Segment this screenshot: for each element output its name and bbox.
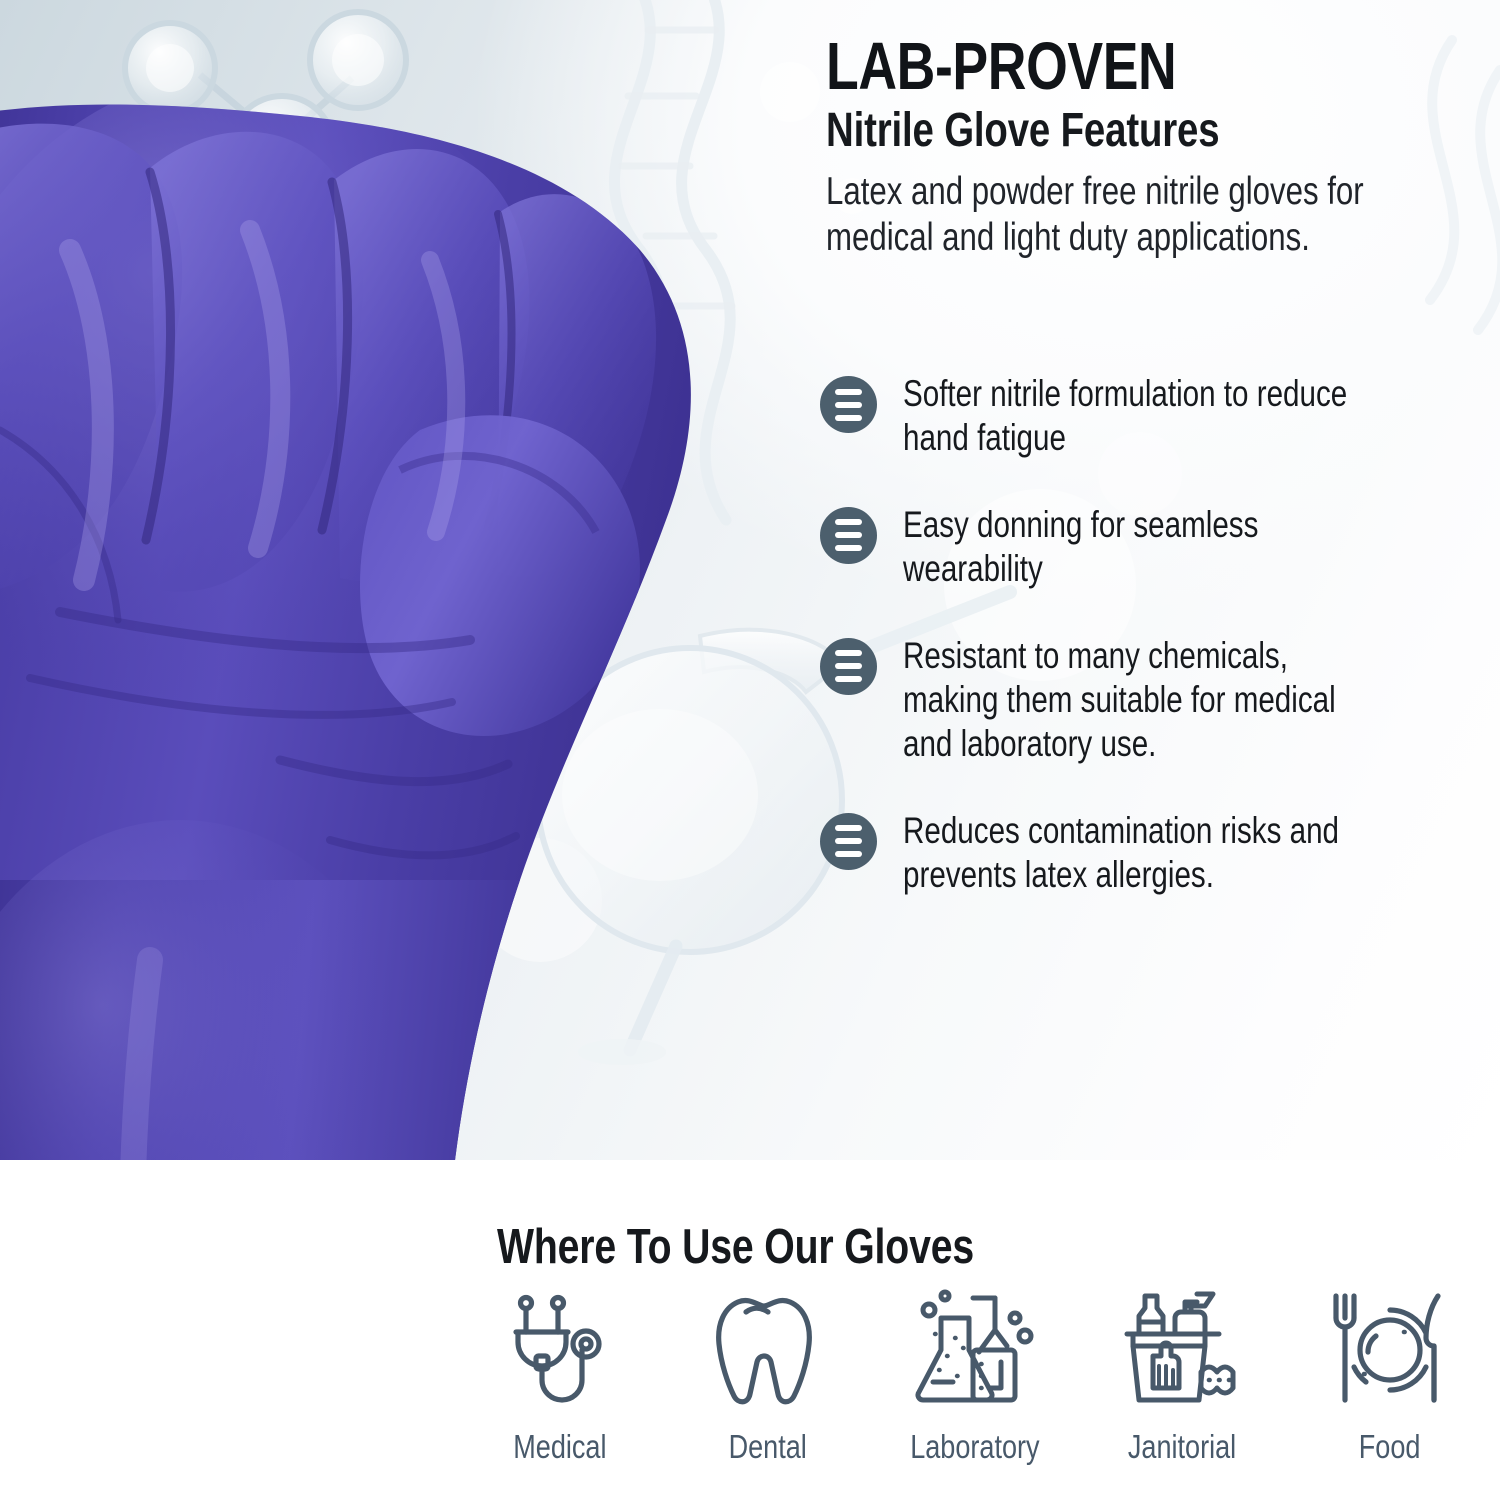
stethoscope-icon (496, 1288, 624, 1416)
list-item: Resistant to many chemicals, making them… (820, 634, 1480, 767)
list-bullet-icon (820, 813, 877, 870)
usage-label: Janitorial (1128, 1428, 1236, 1466)
usage-label: Medical (513, 1428, 606, 1466)
infographic-canvas: LAB-PROVEN Nitrile Glove Features Latex … (0, 0, 1500, 1500)
usage-item-laboratory: Laboratory (885, 1288, 1065, 1466)
lab-flask-icon (911, 1288, 1039, 1416)
feature-text: Easy donning for seamless wearability (903, 503, 1365, 592)
usage-item-food: Food (1300, 1288, 1480, 1466)
list-bullet-icon (820, 376, 877, 433)
usage-label: Dental (728, 1428, 806, 1466)
list-item: Easy donning for seamless wearability (820, 503, 1480, 592)
page-subtitle: Latex and powder free nitrile gloves for… (826, 169, 1466, 263)
cutlery-plate-icon (1326, 1288, 1454, 1416)
page-kicker: LAB-PROVEN (826, 34, 1338, 100)
list-bullet-icon (820, 507, 877, 564)
usage-item-dental: Dental (678, 1288, 858, 1466)
usage-label: Laboratory (910, 1428, 1039, 1466)
feature-list: Softer nitrile formulation to reduce han… (820, 372, 1480, 898)
feature-text: Softer nitrile formulation to reduce han… (903, 372, 1365, 461)
usage-item-medical: Medical (470, 1288, 650, 1466)
cleaning-bucket-icon (1119, 1288, 1247, 1416)
list-bullet-icon (820, 638, 877, 695)
tooth-icon (704, 1288, 832, 1416)
usage-title: Where To Use Our Gloves (497, 1219, 974, 1275)
page-title: Nitrile Glove Features (826, 106, 1338, 157)
usage-icon-row: Medical Dental (470, 1288, 1480, 1466)
list-item: Reduces contamination risks and prevents… (820, 809, 1480, 898)
usage-item-janitorial: Janitorial (1093, 1288, 1273, 1466)
list-item: Softer nitrile formulation to reduce han… (820, 372, 1480, 461)
feature-text: Resistant to many chemicals, making them… (903, 634, 1365, 767)
feature-text: Reduces contamination risks and prevents… (903, 809, 1365, 898)
header-text-block: LAB-PROVEN Nitrile Glove Features Latex … (826, 34, 1466, 262)
usage-section: Where To Use Our Gloves Medical (0, 1160, 1500, 1500)
usage-label: Food (1359, 1428, 1421, 1466)
